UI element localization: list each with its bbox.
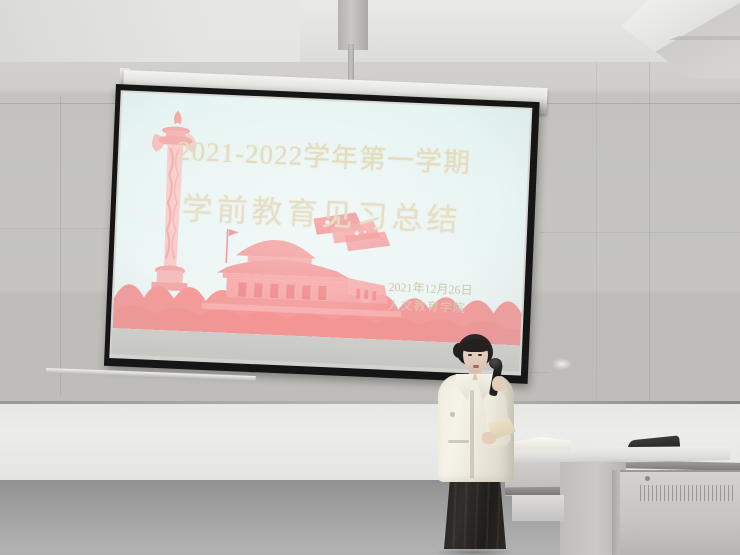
presenter-shadow bbox=[434, 548, 514, 555]
lecture-hall-photo: 2021-2022学年第一学期 学前教育见习总结 2021年12月26日 人文教… bbox=[0, 0, 740, 555]
cabinet-lock bbox=[645, 476, 650, 481]
presenter-coat-pocket-left bbox=[448, 440, 469, 443]
projected-slide: 2021-2022学年第一学期 学前教育见习总结 2021年12月26日 人文教… bbox=[113, 92, 531, 345]
presenter bbox=[430, 334, 530, 555]
wall-tile-seam bbox=[649, 62, 650, 402]
presenter-mouth bbox=[473, 365, 479, 368]
wall-tile-seam bbox=[60, 96, 61, 396]
presenter-hand-right bbox=[492, 376, 505, 391]
ceiling-shading bbox=[0, 0, 300, 62]
equipment-cabinet bbox=[620, 470, 740, 555]
presenter-hair-fringe bbox=[461, 339, 490, 352]
presenter-hand-left bbox=[482, 432, 496, 444]
presenter-eye-left bbox=[468, 354, 472, 356]
projector-glare bbox=[552, 358, 572, 370]
presenter-coat-placket bbox=[470, 390, 474, 478]
presenter-eye-right bbox=[478, 354, 482, 356]
presenter-coat-button bbox=[450, 412, 455, 417]
cabinet-ventilation-slots bbox=[640, 485, 735, 501]
wall-tile-seam bbox=[596, 62, 597, 402]
presenter-skirt-pleats bbox=[444, 476, 506, 552]
wall-tile-seam bbox=[540, 232, 740, 233]
screen-ceiling-mount bbox=[338, 0, 368, 50]
